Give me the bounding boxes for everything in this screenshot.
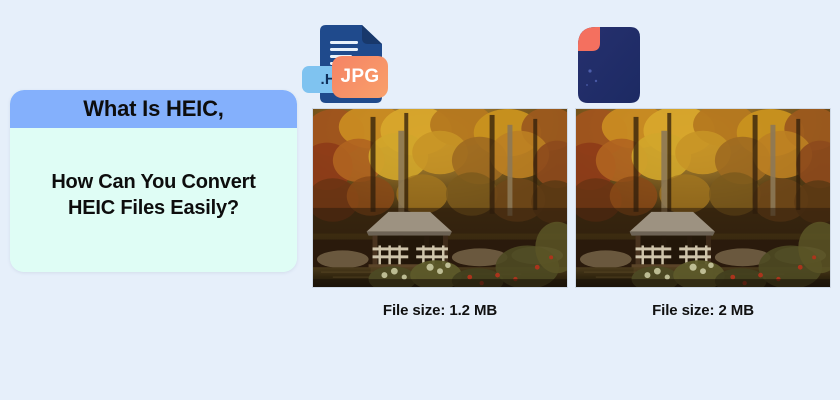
jpg-file-size-label: File size: 2 MB: [575, 302, 831, 319]
page-title: What Is HEIC,: [83, 98, 223, 120]
jpg-file-icon: [572, 25, 646, 105]
autumn-lake-scene-jpg: [576, 109, 830, 287]
jpg-format-label: JPG: [341, 66, 380, 88]
file-comparison: .HEIC JPG: [310, 20, 830, 350]
jpg-preview-image: [575, 108, 831, 288]
page-subtitle: How Can You Convert HEIC Files Easily?: [26, 169, 281, 222]
info-card-header: What Is HEIC,: [10, 90, 297, 128]
slide-canvas: What Is HEIC, How Can You Convert HEIC F…: [0, 0, 840, 400]
autumn-lake-scene-heic: [313, 109, 567, 287]
info-card: What Is HEIC, How Can You Convert HEIC F…: [10, 90, 297, 272]
jpg-format-badge: JPG: [332, 56, 388, 98]
jpg-icon-graphic: [572, 25, 646, 105]
info-card-body: How Can You Convert HEIC Files Easily?: [10, 128, 297, 272]
heic-file-size-label: File size: 1.2 MB: [312, 302, 568, 319]
heic-preview-image: [312, 108, 568, 288]
heic-file-size-text: File size: 1.2 MB: [383, 302, 497, 319]
jpg-file-size-text: File size: 2 MB: [652, 302, 754, 319]
